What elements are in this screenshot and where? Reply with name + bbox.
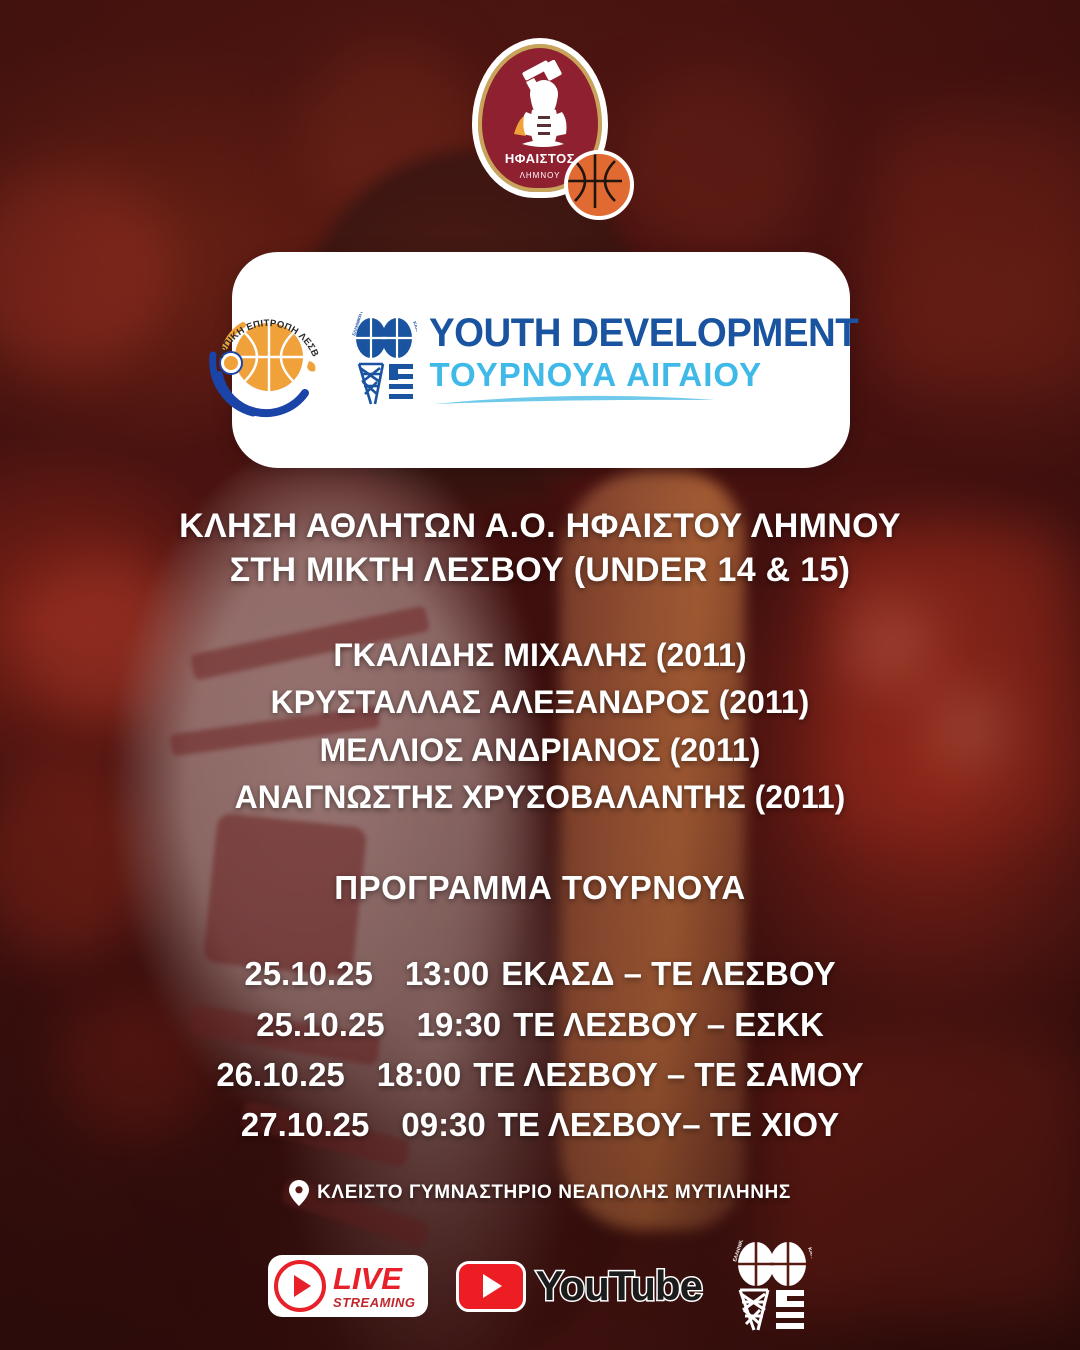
poster-content: ΚΛΗΣΗ ΑΘΛΗΤΩΝ Α.Ο. ΗΦΑΙΣΤΟΥ ΛΗΜΝΟΥ ΣΤΗ Μ… xyxy=(0,505,1080,1206)
live-streaming-badge[interactable]: LIVE STREAMING xyxy=(268,1255,428,1317)
list-item: ΚΡΥΣΤΑΛΛΑΣ ΑΛΕΞΑΝΔΡΟΣ (2011) xyxy=(0,679,1080,726)
youtube-play-icon xyxy=(456,1261,526,1312)
venue-line: ΚΛΕΙΣΤΟ ΓΥΜΝΑΣΤΗΡΙΟ ΝΕΑΠΟΛΗΣ ΜΥΤΙΛΗΝΗΣ xyxy=(0,1180,1080,1206)
player-list: ΓΚΑΛΙΔΗΣ ΜΙΧΑΛΗΣ (2011) ΚΡΥΣΤΑΛΛΑΣ ΑΛΕΞΑ… xyxy=(0,632,1080,821)
page-title: ΚΛΗΣΗ ΑΘΛΗΤΩΝ Α.Ο. ΗΦΑΙΣΤΟΥ ΛΗΜΝΟΥ ΣΤΗ Μ… xyxy=(0,505,1080,592)
game-time: 13:00 xyxy=(405,955,489,992)
blacksmith-icon xyxy=(492,60,588,164)
bokeh-spot xyxy=(0,170,170,370)
youth-development-subtitle: ΤΟΥΡΝΟΥΑ ΑΙΓΑΙΟΥ xyxy=(429,358,876,391)
game-time: 19:30 xyxy=(417,1006,501,1043)
sponsor-logo-card: ΤΟΠΙΚΗ ΕΠΙΤΡΟΠΗ ΛΕΣΒΟΥ xyxy=(232,252,850,468)
map-pin-icon xyxy=(289,1180,309,1206)
schedule-list: 25.10.2513:00ΕΚΑΣΔ – ΤΕ ΛΕΣΒΟΥ 25.10.251… xyxy=(0,949,1080,1150)
live-label: LIVE xyxy=(333,1263,416,1294)
eok-federation-icon: ΕΛΛΗΝΙΚΗ ΟΜΟΣΠΟΝΔΙΑ ΚΑΛΑΘΟΣΦΑΙΡΙΣΗΣ xyxy=(351,312,417,408)
table-row: 25.10.2513:00ΕΚΑΣΔ – ΤΕ ΛΕΣΒΟΥ xyxy=(0,949,1080,999)
venue-text: ΚΛΕΙΣΤΟ ΓΥΜΝΑΣΤΗΡΙΟ ΝΕΑΠΟΛΗΣ ΜΥΤΙΛΗΝΗΣ xyxy=(317,1182,791,1204)
poster-root: ΗΦΑΙΣΤΟΣ ΛΗΜΝΟΥ xyxy=(0,0,1080,1350)
club-crest: ΗΦΑΙΣΤΟΣ ΛΗΜΝΟΥ xyxy=(0,38,1080,198)
game-date: 25.10.25 xyxy=(244,955,372,992)
list-item: ΑΝΑΓΝΩΣΤΗΣ ΧΡΥΣΟΒΑΛΑΝΤΗΣ (2011) xyxy=(0,774,1080,821)
basketball-icon xyxy=(564,150,634,220)
youtube-label: YouTube xyxy=(536,1262,702,1310)
table-row: 27.10.2509:30ΤΕ ΛΕΣΒΟΥ– ΤΕ ΧΙΟΥ xyxy=(0,1100,1080,1150)
table-row: 26.10.2518:00ΤΕ ΛΕΣΒΟΥ – ΤΕ ΣΑΜΟΥ xyxy=(0,1050,1080,1100)
schedule-title: ΠΡΟΓΡΑΜΜΑ ΤΟΥΡΝΟΥΑ xyxy=(0,869,1080,907)
headline-line-1: ΚΛΗΣΗ ΑΘΛΗΤΩΝ Α.Ο. ΗΦΑΙΣΤΟΥ ΛΗΜΝΟΥ xyxy=(60,505,1020,549)
table-row: 25.10.2519:30ΤΕ ΛΕΣΒΟΥ – ΕΣΚΚ xyxy=(0,1000,1080,1050)
youtube-badge[interactable]: YouTube xyxy=(456,1261,702,1312)
lesvos-committee-logo: ΤΟΠΙΚΗ ΕΠΙΤΡΟΠΗ ΛΕΣΒΟΥ xyxy=(205,301,329,419)
game-match: ΕΚΑΣΔ – ΤΕ ΛΕΣΒΟΥ xyxy=(501,955,835,992)
headline-line-2: ΣΤΗ ΜΙΚΤΗ ΛΕΣΒΟΥ (UNDER 14 & 15) xyxy=(60,549,1020,593)
svg-text:ΚΑΛΑΘΟΣΦΑΙΡΙΣΗΣ: ΚΑΛΑΘΟΣΦΑΙΡΙΣΗΣ xyxy=(413,321,418,363)
game-date: 25.10.25 xyxy=(256,1006,384,1043)
eok-federation-footer-icon: ΕΛΛΗΝΙΚΗ ΟΜΟΣΠ. ΚΑΛΑΘΟΣΦΑΙΡΙΣΗΣ xyxy=(730,1240,812,1332)
list-item: ΜΕΛΛΙΟΣ ΑΝΔΡΙΑΝΟΣ (2011) xyxy=(0,727,1080,774)
game-match: ΤΕ ΛΕΣΒΟΥ– ΤΕ ΧΙΟΥ xyxy=(498,1106,839,1143)
svg-text:ΚΑΛΑΘΟΣΦΑΙΡΙΣΗΣ: ΚΑΛΑΘΟΣΦΑΙΡΙΣΗΣ xyxy=(806,1247,812,1294)
swoosh-underline-icon xyxy=(429,393,719,407)
play-circle-icon xyxy=(274,1260,326,1312)
game-time: 18:00 xyxy=(377,1056,461,1093)
game-match: ΤΕ ΛΕΣΒΟΥ – ΕΣΚΚ xyxy=(513,1006,824,1043)
youth-development-title: YOUTH DEVELOPMENT xyxy=(429,313,858,353)
game-time: 09:30 xyxy=(401,1106,485,1143)
list-item: ΓΚΑΛΙΔΗΣ ΜΙΧΑΛΗΣ (2011) xyxy=(0,632,1080,679)
game-date: 26.10.25 xyxy=(216,1056,344,1093)
game-match: ΤΕ ΛΕΣΒΟΥ – ΤΕ ΣΑΜΟΥ xyxy=(473,1056,863,1093)
youth-development-block: ΕΛΛΗΝΙΚΗ ΟΜΟΣΠΟΝΔΙΑ ΚΑΛΑΘΟΣΦΑΙΡΙΣΗΣ YOUT… xyxy=(351,312,876,408)
game-date: 27.10.25 xyxy=(241,1106,369,1143)
footer-badges: LIVE STREAMING YouTube xyxy=(0,1240,1080,1332)
streaming-label: STREAMING xyxy=(333,1296,416,1309)
